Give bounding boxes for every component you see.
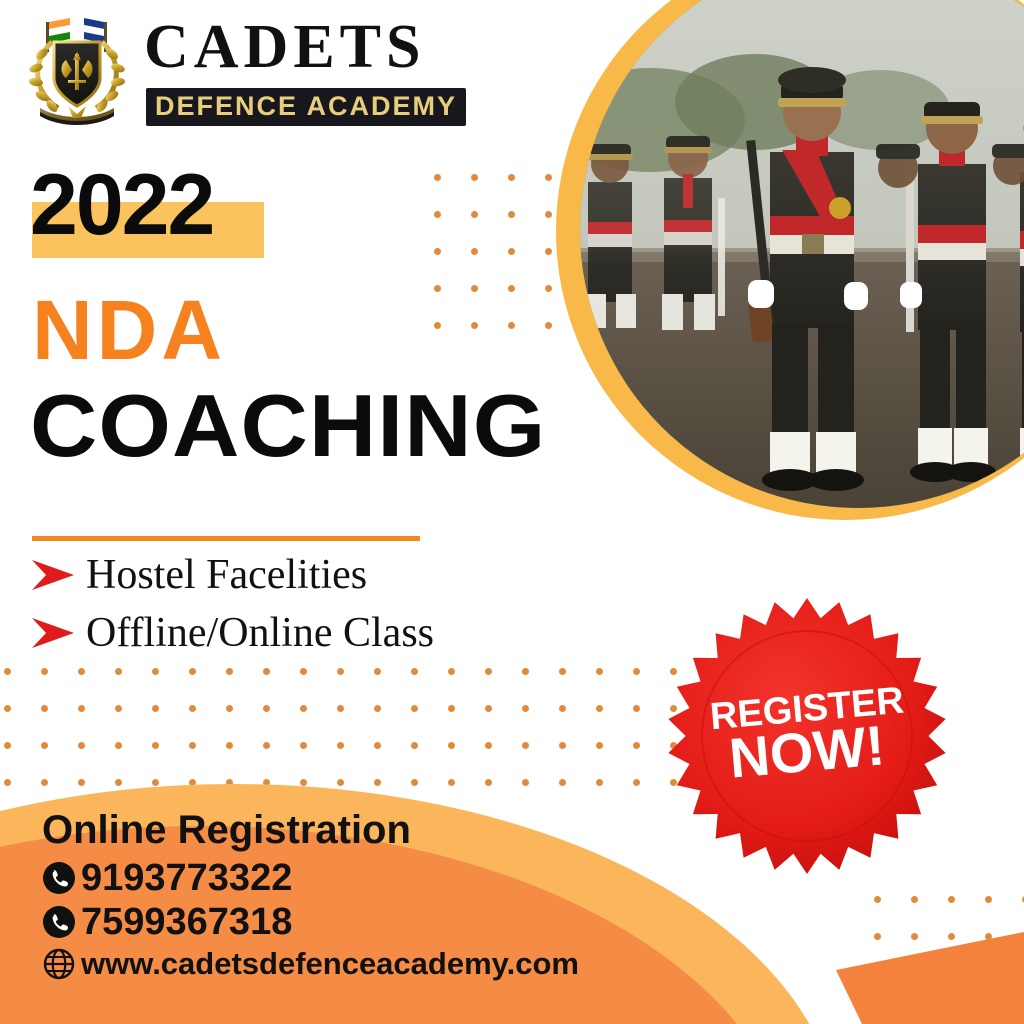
decorative-dot <box>545 174 552 181</box>
decorative-dot <box>545 285 552 292</box>
decorative-dot <box>633 779 640 786</box>
decorative-dot <box>508 322 515 329</box>
decorative-dot <box>226 668 233 675</box>
decorative-dot <box>522 742 529 749</box>
red-arrow-bullet-icon <box>30 616 76 650</box>
decorative-dot <box>300 668 307 675</box>
decorative-dot <box>434 322 441 329</box>
decorative-dot <box>434 211 441 218</box>
contact-title: Online Registration <box>42 808 662 853</box>
year-text: 2022 <box>30 162 213 248</box>
decorative-dot <box>434 285 441 292</box>
decorative-dot <box>471 248 478 255</box>
decorative-dot <box>115 742 122 749</box>
decorative-dot <box>633 742 640 749</box>
feature-label: Offline/Online Class <box>86 612 434 654</box>
decorative-dot <box>411 705 418 712</box>
decorative-dot <box>522 668 529 675</box>
decorative-dot <box>508 211 515 218</box>
decorative-dot <box>152 742 159 749</box>
decorative-dot <box>4 742 11 749</box>
list-item: Offline/Online Class <box>30 604 570 662</box>
decorative-dot <box>448 705 455 712</box>
decorative-dot <box>152 779 159 786</box>
decorative-dot <box>508 248 515 255</box>
phone-row-2[interactable]: 7599367318 <box>42 903 662 941</box>
shield-laurel-emblem-icon <box>18 8 136 126</box>
brand-name: CADETS <box>144 16 426 78</box>
decorative-dot <box>559 668 566 675</box>
year-heading: 2022 <box>30 162 213 258</box>
decorative-dot <box>300 779 307 786</box>
poster-canvas: CADETS DEFENCE ACADEMY 2022 NDA COACHING… <box>0 0 1024 1024</box>
decorative-dot <box>559 705 566 712</box>
decorative-dot <box>596 742 603 749</box>
register-now-badge[interactable]: REGISTER NOW! <box>666 594 948 876</box>
decorative-dot <box>78 742 85 749</box>
brand-subtitle-plate: DEFENCE ACADEMY <box>146 88 466 126</box>
phone-row-1[interactable]: 9193773322 <box>42 859 662 897</box>
decorative-dot <box>337 705 344 712</box>
decorative-dot <box>263 705 270 712</box>
decorative-dot <box>471 211 478 218</box>
decorative-dot <box>411 779 418 786</box>
globe-icon <box>42 947 76 981</box>
decorative-dot <box>448 779 455 786</box>
decorative-dot <box>78 668 85 675</box>
decorative-dot <box>633 705 640 712</box>
website-row[interactable]: www.cadetsdefenceacademy.com <box>42 947 662 981</box>
decorative-dot <box>41 668 48 675</box>
decorative-dot <box>78 779 85 786</box>
decorative-dot <box>448 668 455 675</box>
feature-label: Hostel Facelities <box>86 554 367 596</box>
decorative-dot <box>559 742 566 749</box>
decorative-dot <box>545 248 552 255</box>
red-arrow-bullet-icon <box>30 558 76 592</box>
brand-logo: CADETS DEFENCE ACADEMY <box>18 6 438 128</box>
decorative-dot <box>115 779 122 786</box>
decorative-dot <box>115 668 122 675</box>
decorative-dot <box>522 779 529 786</box>
decorative-dot <box>226 705 233 712</box>
decorative-dot <box>434 174 441 181</box>
decorative-dot <box>485 668 492 675</box>
decorative-dot <box>485 742 492 749</box>
decorative-dot <box>41 779 48 786</box>
decorative-dot <box>78 705 85 712</box>
decorative-dot <box>545 322 552 329</box>
service-heading: COACHING <box>30 382 546 470</box>
decorative-dot <box>4 668 11 675</box>
decorative-dot <box>374 705 381 712</box>
decorative-dot <box>4 705 11 712</box>
list-item: Hostel Facelities <box>30 546 570 604</box>
contact-block: Online Registration 9193773322 759936731… <box>42 808 662 981</box>
decorative-dot <box>471 174 478 181</box>
decorative-dot <box>115 705 122 712</box>
decorative-dot <box>263 668 270 675</box>
decorative-dot <box>374 742 381 749</box>
decorative-dot <box>411 668 418 675</box>
decorative-dot <box>152 668 159 675</box>
decorative-dot <box>189 742 196 749</box>
decorative-dot <box>434 248 441 255</box>
website-url: www.cadetsdefenceacademy.com <box>81 948 579 979</box>
decorative-dot <box>374 668 381 675</box>
decorative-dot <box>522 705 529 712</box>
decorative-dot <box>337 668 344 675</box>
decorative-dot <box>152 705 159 712</box>
decorative-dot <box>471 285 478 292</box>
decorative-dot <box>41 705 48 712</box>
corner-accent-shape <box>804 874 1024 1024</box>
decorative-dot <box>4 779 11 786</box>
decorative-dot <box>189 705 196 712</box>
decorative-dot <box>485 705 492 712</box>
feature-divider-rule <box>32 536 420 541</box>
decorative-dot <box>596 705 603 712</box>
decorative-dot <box>374 779 381 786</box>
decorative-dot <box>300 742 307 749</box>
brand-subtitle: DEFENCE ACADEMY <box>155 93 457 120</box>
decorative-dot <box>337 779 344 786</box>
decorative-dot <box>471 322 478 329</box>
decorative-dot <box>559 779 566 786</box>
decorative-dot <box>189 668 196 675</box>
program-heading: NDA <box>32 288 226 372</box>
decorative-dot <box>596 668 603 675</box>
phone-number: 9193773322 <box>81 859 292 897</box>
decorative-dot <box>485 779 492 786</box>
decorative-dot <box>633 668 640 675</box>
feature-list: Hostel Facelities Offline/Online Class <box>30 546 570 662</box>
decorative-dot <box>300 705 307 712</box>
decorative-dot <box>337 742 344 749</box>
phone-number: 7599367318 <box>81 903 292 941</box>
decorative-dot <box>508 174 515 181</box>
decorative-dot <box>448 742 455 749</box>
decorative-dot <box>508 285 515 292</box>
decorative-dot <box>41 742 48 749</box>
decorative-dot <box>596 779 603 786</box>
phone-icon <box>42 861 76 895</box>
decorative-dot <box>411 742 418 749</box>
decorative-dot <box>263 742 270 749</box>
phone-icon <box>42 905 76 939</box>
decorative-dot <box>226 742 233 749</box>
decorative-dot <box>545 211 552 218</box>
